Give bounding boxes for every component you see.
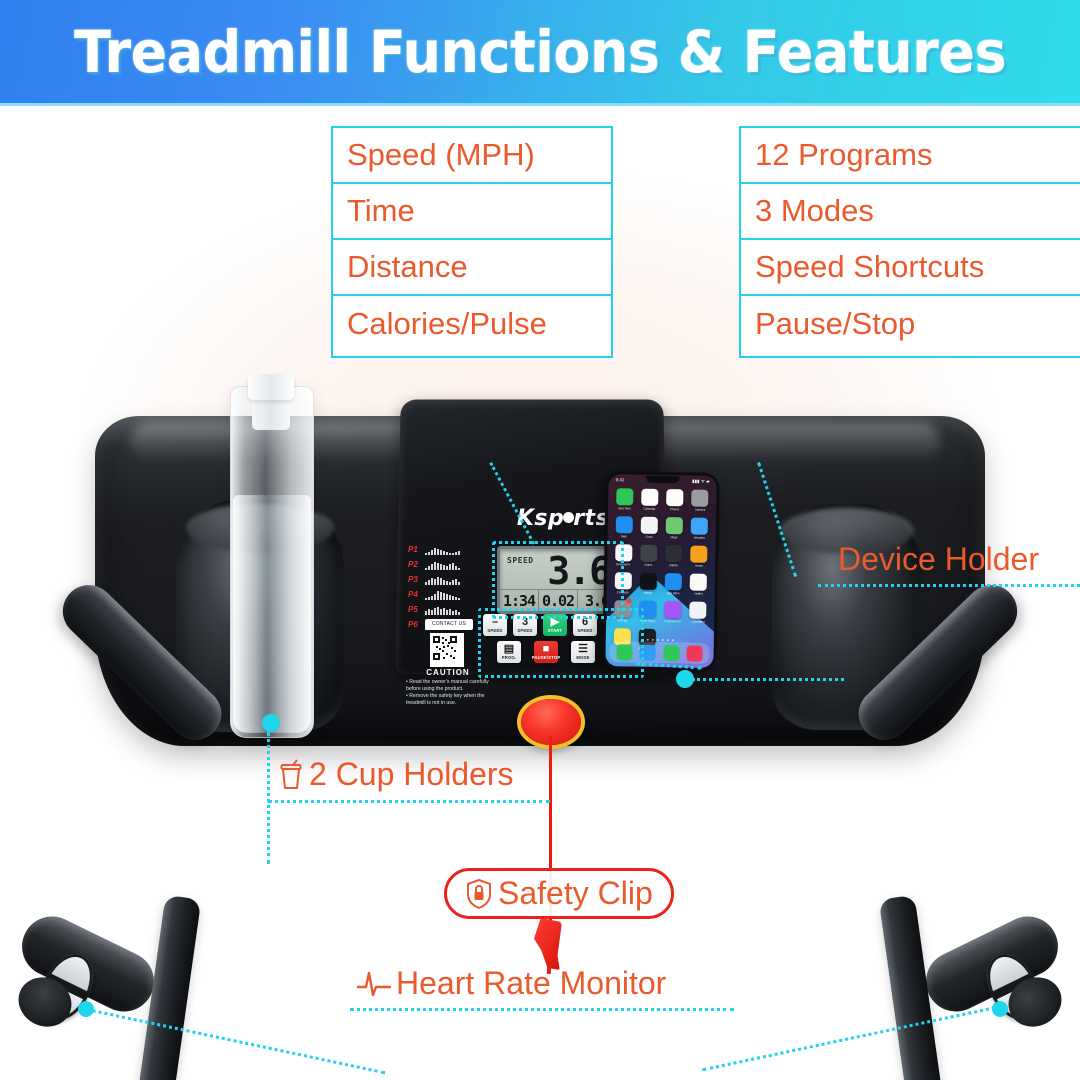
phone-app-notes[interactable]: Notes: [638, 545, 659, 567]
app-icon: [640, 573, 657, 590]
program-bar: [434, 548, 436, 555]
app-label: Mail: [621, 534, 627, 538]
program-bar: [458, 568, 460, 570]
app-label: Weather: [694, 536, 705, 540]
callout-row-display-0: Speed (MPH): [333, 128, 611, 184]
contact-us-label: CONTACT US: [425, 619, 473, 630]
heart-rate-text: Heart Rate Monitor: [396, 965, 666, 1002]
program-bar: [428, 566, 430, 570]
program-label-P1: P1: [408, 545, 421, 554]
app-icon: [641, 517, 658, 534]
page-title: Treadmill Functions & Features: [74, 18, 1006, 86]
connector-device-holder: [692, 678, 844, 681]
phone-app-weather[interactable]: Weather: [689, 517, 710, 539]
program-bar: [452, 580, 454, 585]
app-label: Calculator: [691, 620, 705, 624]
program-bar: [449, 582, 451, 585]
program-bar: [428, 552, 430, 555]
app-label: Podcast Pro: [665, 619, 681, 623]
program-row-P4: P4: [408, 587, 488, 602]
program-row-P5: P5: [408, 602, 488, 617]
program-bar: [431, 596, 433, 600]
program-row-P2: P2: [408, 557, 488, 572]
dock-app-music[interactable]: [687, 645, 703, 661]
app-icon: [690, 602, 707, 619]
program-bar: [449, 553, 451, 555]
phone-app-app-store[interactable]: App Store: [663, 573, 684, 595]
program-bar: [437, 577, 439, 585]
safety-clip-part: [534, 918, 562, 970]
program-bar: [443, 593, 445, 600]
underline-cup-holders: [268, 800, 550, 803]
qr-code-icon: [430, 633, 464, 667]
page-header-banner: Treadmill Functions & Features: [0, 0, 1080, 103]
cup-holders-text: 2 Cup Holders: [309, 756, 514, 793]
label-device-holder: Device Holder: [838, 541, 1039, 578]
program-bar: [434, 579, 436, 585]
page-dot: [661, 639, 663, 641]
underline-device-holder: [818, 584, 1080, 587]
app-icon: [665, 573, 682, 590]
phone-app-watch[interactable]: Watch: [638, 573, 659, 595]
program-bar: [440, 564, 442, 570]
program-bar: [440, 578, 442, 585]
program-bar: [437, 607, 439, 615]
page-dot: [666, 639, 668, 641]
program-bar: [446, 552, 448, 555]
program-bar: [425, 553, 427, 555]
phone-app-photos[interactable]: Photos: [665, 489, 686, 511]
program-bar: [428, 609, 430, 615]
program-bar: [443, 565, 445, 570]
connector-heart-rate-right: [702, 1006, 996, 1071]
program-bar: [434, 608, 436, 615]
phone-app-utilities[interactable]: Utilities: [664, 545, 685, 567]
program-bar: [437, 563, 439, 570]
program-bar: [431, 564, 433, 570]
phone-app-mail[interactable]: Mail: [614, 516, 635, 538]
app-icon: [691, 546, 708, 563]
app-label: FaceTime: [618, 506, 631, 510]
program-bar: [455, 579, 457, 585]
qr-code-svg: [432, 635, 458, 661]
program-label-P5: P5: [408, 605, 421, 614]
program-bar: [428, 580, 430, 585]
water-bottle-liquid: [233, 495, 311, 733]
status-indicators: ▮▮▮ ᯤ ▰: [692, 478, 710, 484]
shield-lock-icon: [465, 878, 493, 910]
phone-app-camera[interactable]: Camera: [690, 489, 711, 511]
callout-box-display-features: Speed (MPH)TimeDistanceCalories/Pulse: [331, 126, 613, 358]
app-label: Utilities: [669, 563, 679, 567]
program-bar: [455, 597, 457, 600]
program-bar: [440, 592, 442, 600]
program-bar: [443, 551, 445, 555]
callout-row-control-2: Speed Shortcuts: [741, 240, 1080, 296]
program-bar: [428, 597, 430, 600]
app-label: Home: [695, 564, 703, 568]
app-icon: [690, 574, 707, 591]
marker-dot-hr-right: [992, 1001, 1008, 1017]
program-bar: [437, 549, 439, 555]
phone-app-facetime[interactable]: FaceTime: [614, 488, 635, 510]
program-bar: [425, 598, 427, 600]
heartbeat-pulse-icon: [357, 969, 391, 999]
label-safety-clip: Safety Clip: [444, 868, 674, 919]
program-bar: [452, 596, 454, 600]
caution-line: • Read the owner's manual carefully befo…: [406, 679, 492, 693]
program-label-P6: P6: [408, 620, 421, 629]
program-row-P3: P3: [408, 572, 488, 587]
phone-app-wallet[interactable]: Wallet: [688, 573, 709, 595]
connector-heart-rate-left: [91, 1009, 385, 1074]
app-icon: [692, 490, 709, 507]
program-bar: [458, 551, 460, 555]
app-icon: [641, 489, 658, 506]
program-bar: [452, 563, 454, 570]
program-bar: [443, 608, 445, 615]
app-label: Calendar: [643, 507, 655, 511]
callout-row-control-3: Pause/Stop: [741, 296, 1080, 352]
app-icon: [615, 516, 632, 533]
marker-dot-hr-left: [78, 1001, 94, 1017]
app-label: Wallet: [694, 592, 702, 596]
app-label: Watch: [644, 591, 652, 595]
app-icon: [616, 488, 633, 505]
program-bar: [446, 610, 448, 615]
program-label-P4: P4: [408, 590, 421, 599]
app-label: App Store: [667, 591, 680, 595]
app-label: Clock: [645, 535, 653, 539]
caution-text: • Read the owner's manual carefully befo…: [406, 679, 492, 707]
marker-dot-cup-holder: [262, 714, 280, 732]
program-bars-P1: [425, 544, 460, 555]
program-bar: [455, 552, 457, 555]
program-bar: [449, 595, 451, 600]
program-bars-P4: [425, 589, 460, 600]
program-bar: [425, 611, 427, 615]
caution-title: CAUTION: [412, 668, 484, 677]
water-bottle-cap: [248, 374, 294, 400]
underline-heart-rate: [350, 1008, 734, 1011]
page-dot: [656, 639, 658, 641]
dock-app-messages[interactable]: [663, 645, 679, 661]
drink-cup-icon: [278, 759, 304, 791]
page-dot: [671, 639, 673, 641]
device-holder-text: Device Holder: [838, 541, 1039, 578]
app-icon: [664, 601, 681, 618]
program-bar: [434, 562, 436, 570]
program-bars-P3: [425, 574, 460, 585]
program-bar: [440, 609, 442, 615]
program-bars-P2: [425, 559, 460, 570]
program-bar: [458, 598, 460, 600]
program-bar: [440, 550, 442, 555]
marker-dot-device-holder: [676, 670, 694, 688]
caution-line: • Remove the safety key when the treadmi…: [406, 693, 492, 707]
app-icon: [666, 489, 683, 506]
phone-app-home[interactable]: Home: [689, 545, 710, 567]
app-label: Notes: [645, 563, 653, 567]
infographic-page: Treadmill Functions & Features Ksprts P1…: [0, 0, 1080, 1080]
status-time: 9:41: [616, 477, 625, 482]
program-bar: [425, 582, 427, 585]
page-dot: [646, 639, 648, 641]
callout-box-control-features: 12 Programs3 ModesSpeed ShortcutsPause/S…: [739, 126, 1080, 358]
program-bar: [425, 568, 427, 570]
app-icon: [665, 545, 682, 562]
callout-row-display-1: Time: [333, 184, 611, 240]
water-bottle: [230, 386, 314, 738]
program-bar: [431, 578, 433, 585]
program-bars-P5: [425, 604, 460, 615]
program-label-P3: P3: [408, 575, 421, 584]
program-bar: [449, 564, 451, 570]
safety-clip-text: Safety Clip: [498, 875, 653, 912]
phone-app-calculator[interactable]: Calculator: [688, 601, 709, 623]
program-bar: [452, 553, 454, 555]
program-label-P2: P2: [408, 560, 421, 569]
app-icon: [691, 518, 708, 535]
program-bar: [443, 580, 445, 585]
program-bar: [446, 581, 448, 585]
connector-cup-holder: [267, 732, 270, 864]
program-bar: [455, 610, 457, 615]
program-bar: [446, 566, 448, 570]
program-bar: [452, 611, 454, 615]
program-bar: [431, 550, 433, 555]
program-bar: [446, 594, 448, 600]
callout-row-control-1: 3 Modes: [741, 184, 1080, 240]
callout-row-display-3: Calories/Pulse: [333, 296, 611, 352]
app-icon: [640, 545, 657, 562]
phone-app-podcast-pro[interactable]: Podcast Pro: [663, 601, 684, 623]
app-label: Maps: [671, 535, 678, 539]
program-row-P1: P1: [408, 542, 488, 557]
page-dot: [651, 639, 653, 641]
phone-app-clock[interactable]: Clock: [639, 517, 660, 539]
program-bar: [437, 591, 439, 600]
app-label: Camera: [695, 508, 706, 512]
callout-row-control-0: 12 Programs: [741, 128, 1080, 184]
label-heart-rate-monitor: Heart Rate Monitor: [357, 965, 666, 1002]
app-label: Photos: [670, 507, 679, 511]
phone-status-bar: 9:41 ▮▮▮ ᯤ ▰: [608, 474, 716, 487]
program-bar: [458, 612, 460, 615]
app-icon: [666, 517, 683, 534]
program-bar: [458, 582, 460, 585]
label-cup-holders: 2 Cup Holders: [278, 756, 514, 793]
keypad-highlight-box: [478, 608, 644, 678]
phone-app-maps[interactable]: Maps: [664, 517, 685, 539]
program-bar: [431, 610, 433, 615]
callout-row-display-2: Distance: [333, 240, 611, 296]
program-bar: [449, 609, 451, 615]
program-bar: [455, 566, 457, 570]
program-bar: [434, 594, 436, 600]
phone-app-calendar[interactable]: Calendar: [639, 489, 660, 511]
